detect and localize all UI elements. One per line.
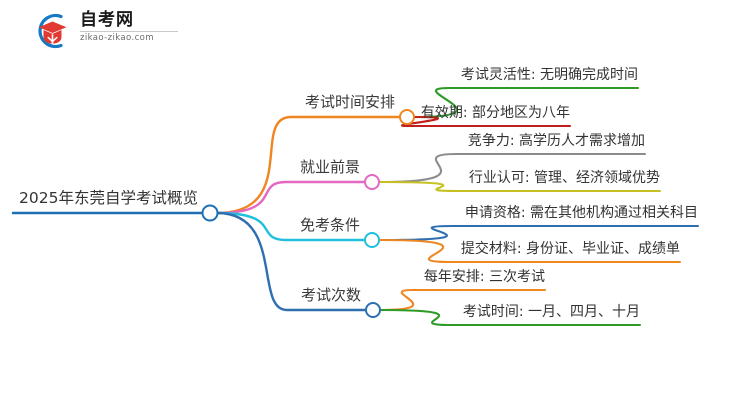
leaf-node-label-3-0: 每年安排: 三次考试 bbox=[424, 270, 545, 284]
mindmap: 2025年东莞自学考试概览考试时间安排考试灵活性: 无明确完成时间有效期: 部分… bbox=[0, 0, 750, 410]
branch-node-label-0[interactable]: 考试时间安排 bbox=[305, 95, 395, 110]
root-node-label: 2025年东莞自学考试概览 bbox=[19, 191, 198, 207]
branch-node-label-1[interactable]: 就业前景 bbox=[300, 160, 360, 175]
leaf-node-label-1-1: 行业认可: 管理、经济领域优势 bbox=[469, 171, 660, 185]
leaf-node-label-2-0: 申请资格: 需在其他机构通过相关科目 bbox=[465, 206, 698, 220]
leaf-node-label-3-1: 考试时间: 一月、四月、十月 bbox=[463, 305, 640, 319]
branch-node-label-2[interactable]: 免考条件 bbox=[300, 218, 360, 233]
leaf-node-label-1-0: 竞争力: 高学历人才需求增加 bbox=[468, 134, 645, 148]
branch-node-label-3[interactable]: 考试次数 bbox=[301, 288, 361, 303]
leaf-node-label-2-1: 提交材料: 身份证、毕业证、成绩单 bbox=[461, 242, 680, 256]
leaf-node-label-0-0: 考试灵活性: 无明确完成时间 bbox=[461, 68, 638, 82]
leaf-node-label-0-1: 有效期: 部分地区为八年 bbox=[421, 106, 570, 120]
